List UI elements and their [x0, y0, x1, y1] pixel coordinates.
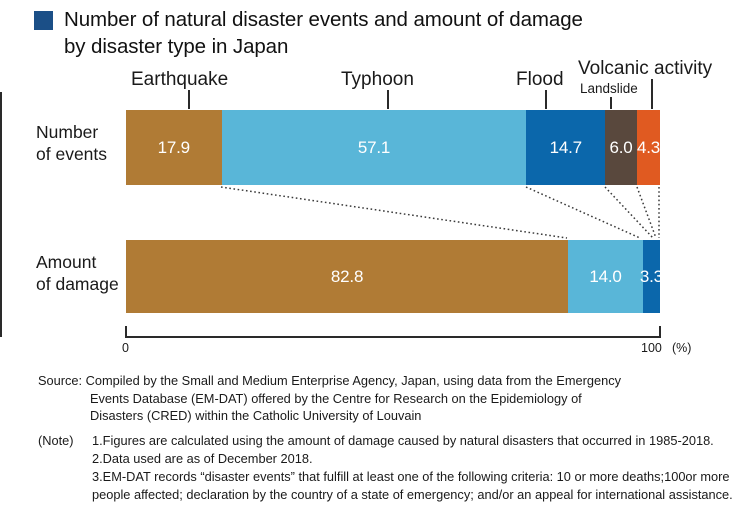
callout-line-volcanic	[651, 79, 653, 109]
source-line-3: Disasters (CRED) within the Catholic Uni…	[38, 407, 728, 425]
callout-landslide: Landslide	[580, 81, 638, 96]
bar-segment-earthquake-damage[interactable]: 82.8	[126, 240, 568, 313]
bar-segment-typhoon-events[interactable]: 57.1	[222, 110, 527, 185]
bar-value-typhoon-damage: 14.0	[589, 267, 621, 287]
x-axis-unit: (%)	[672, 341, 691, 355]
source-note: Source: Compiled by the Small and Medium…	[38, 372, 728, 425]
bar-value-flood-events: 14.7	[550, 138, 582, 158]
bar-segment-flood-damage[interactable]: 3.3	[643, 240, 660, 313]
bar-segment-earthquake-events[interactable]: 17.9	[126, 110, 222, 185]
note-item-3: 3.EM-DAT records “disaster events” that …	[92, 468, 738, 504]
callout-typhoon: Typhoon	[341, 69, 414, 91]
bar-segment-volcanic-events[interactable]: 4.3	[637, 110, 660, 185]
y-axis-line	[0, 92, 2, 337]
title-text: Number of natural disaster events and am…	[64, 6, 583, 60]
bar-segment-landslide-events[interactable]: 6.0	[605, 110, 637, 185]
bar-segment-flood-events[interactable]: 14.7	[526, 110, 604, 185]
title-marker-icon	[34, 11, 53, 30]
x-axis-tick-0	[125, 326, 127, 338]
bar-amount-of-damage: 82.8 14.0 3.3	[126, 240, 660, 313]
bar-value-volcanic-events: 4.3	[637, 138, 660, 158]
note-item-1: 1.Figures are calculated using the amoun…	[92, 432, 738, 450]
bar-value-earthquake-damage: 82.8	[331, 267, 363, 287]
note-item-2: 2.Data used are as of December 2018.	[92, 450, 738, 468]
bar-value-landslide-events: 6.0	[609, 138, 632, 158]
bar-value-typhoon-events: 57.1	[358, 138, 390, 158]
notes-block: (Note) 1.Figures are calculated using th…	[38, 432, 738, 504]
note-tag: (Note)	[38, 432, 92, 450]
bar-value-earthquake-events: 17.9	[158, 138, 190, 158]
bar-number-of-events: 17.9 57.1 14.7 6.0 4.3	[126, 110, 660, 185]
x-axis-line	[125, 336, 661, 338]
source-line-2: Events Database (EM-DAT) offered by the …	[38, 390, 728, 408]
callout-flood: Flood	[516, 69, 564, 91]
bar-segment-typhoon-damage[interactable]: 14.0	[568, 240, 643, 313]
page-title: Number of natural disaster events and am…	[34, 6, 734, 60]
callout-line-earthquake	[188, 90, 190, 109]
x-axis-label-0: 0	[122, 341, 129, 355]
callout-line-flood	[545, 90, 547, 109]
callout-line-typhoon	[387, 90, 389, 109]
bar-value-flood-damage: 3.3	[640, 267, 663, 287]
source-line-1: Source: Compiled by the Small and Medium…	[38, 372, 728, 390]
callout-volcanic: Volcanic activity	[578, 58, 712, 80]
callout-line-landslide	[610, 97, 612, 109]
callout-earthquake: Earthquake	[131, 69, 228, 91]
x-axis-tick-100	[659, 326, 661, 338]
x-axis-label-100: 100	[641, 341, 662, 355]
chart-page: Number of natural disaster events and am…	[0, 0, 750, 525]
